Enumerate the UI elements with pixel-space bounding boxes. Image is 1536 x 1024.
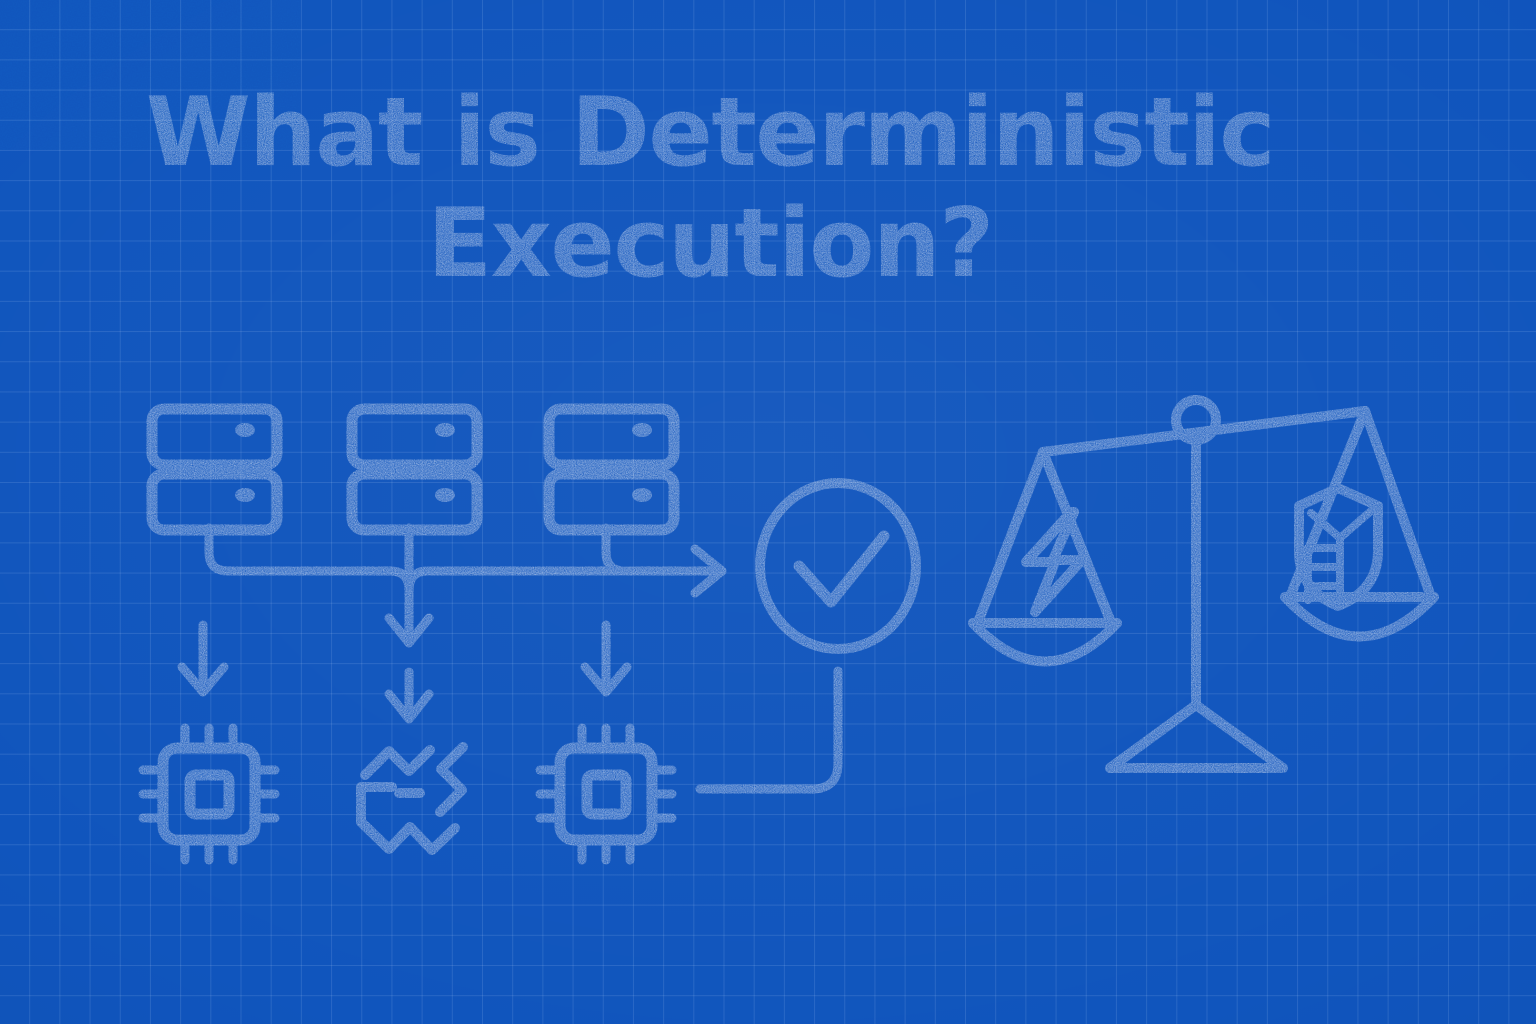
arrow-down-right bbox=[585, 625, 627, 692]
check-circle-icon bbox=[760, 483, 916, 649]
server-icon-3 bbox=[549, 409, 674, 530]
arrow-down-left bbox=[182, 625, 224, 692]
diagram-artwork bbox=[0, 0, 1536, 1024]
glitch-zigzag-icon bbox=[361, 747, 463, 850]
server-icon-2 bbox=[352, 409, 477, 530]
connector-feedback-loop bbox=[700, 671, 838, 789]
scale-pan-left bbox=[973, 452, 1117, 662]
scale-beam bbox=[1043, 411, 1365, 452]
scale-pan-right bbox=[1285, 411, 1434, 637]
illustration-canvas: What is Deterministic Execution? bbox=[0, 0, 1536, 1024]
arrow-down-center bbox=[389, 612, 429, 719]
cpu-chip-icon-right bbox=[540, 728, 672, 860]
connector-merge-bus bbox=[209, 528, 714, 612]
scale-tripod-base bbox=[1110, 705, 1283, 768]
cpu-chip-icon-left bbox=[143, 728, 275, 860]
server-icon-1 bbox=[152, 409, 277, 530]
balance-scale bbox=[973, 400, 1434, 768]
